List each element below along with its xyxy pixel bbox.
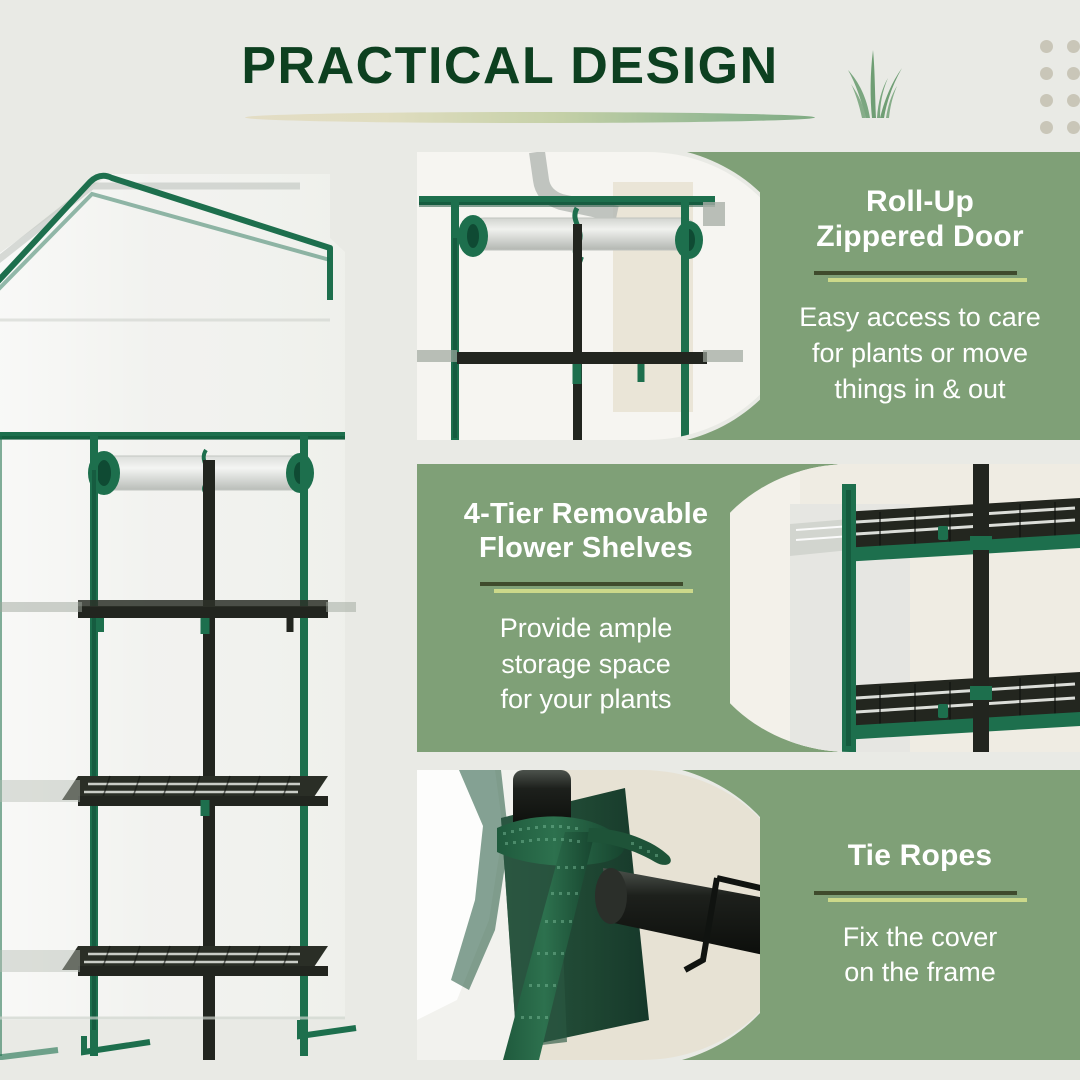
product-image-greenhouse (0, 140, 400, 1060)
rolled-up-door-photo (417, 152, 787, 440)
feature-description: Provide ample storage space for your pla… (490, 611, 683, 718)
feature-divider (814, 271, 1027, 285)
feature-title: Tie Ropes (834, 839, 1007, 874)
feature-description-line: Fix the cover (843, 922, 998, 952)
infographic-root: PRACTICAL DESIGN (0, 0, 1080, 1080)
page-title: PRACTICAL DESIGN (0, 36, 1080, 96)
feature-title: Roll-Up Zippered Door (802, 185, 1038, 255)
feature-description-line: things in & out (834, 374, 1005, 404)
feature-description-line: Provide ample (500, 613, 673, 643)
feature-description-line: Easy access to care (799, 302, 1041, 332)
feature-title: 4-Tier Removable Flower Shelves (450, 498, 722, 565)
feature-description-line: for plants or move (812, 338, 1028, 368)
feature-title-line: Flower Shelves (479, 532, 693, 564)
feature-row-roll-up-door: Roll-Up Zippered Door Easy access to car… (417, 152, 1080, 440)
feature-title-line: Roll-Up (866, 185, 974, 218)
feature-panel-roll-up-door: Roll-Up Zippered Door Easy access to car… (760, 152, 1080, 440)
feature-description: Fix the cover on the frame (833, 920, 1008, 991)
feature-description-line: storage space (501, 649, 671, 679)
feature-divider (480, 582, 693, 596)
feature-divider (814, 891, 1027, 905)
title-underline (245, 112, 815, 123)
feature-title-line: Zippered Door (816, 220, 1024, 253)
feature-description: Easy access to care for plants or move t… (789, 300, 1051, 407)
feature-description-line: on the frame (844, 957, 996, 987)
dot-grid (1040, 40, 1080, 170)
feature-panel-flower-shelves: 4-Tier Removable Flower Shelves Provide … (417, 464, 755, 752)
header: PRACTICAL DESIGN (0, 0, 1080, 150)
shelves-closeup-photo (730, 464, 1080, 752)
feature-title-line: Tie Ropes (848, 839, 993, 872)
feature-row-flower-shelves: 4-Tier Removable Flower Shelves Provide … (417, 464, 1080, 752)
feature-title-line: 4-Tier Removable (464, 498, 708, 530)
feature-description-line: for your plants (500, 684, 671, 714)
tie-rope-strap-photo (417, 770, 787, 1060)
feature-panel-tie-ropes: Tie Ropes Fix the cover on the frame (760, 770, 1080, 1060)
grass-icon (842, 40, 906, 120)
feature-row-tie-ropes: Tie Ropes Fix the cover on the frame (417, 770, 1080, 1060)
